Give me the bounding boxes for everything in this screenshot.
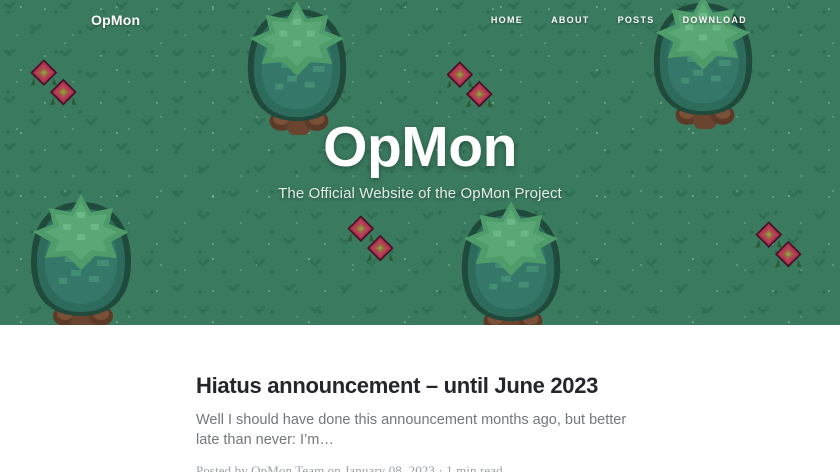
hero-title: OpMon [0,118,840,178]
hero-subtitle: The Official Website of the OpMon Projec… [0,185,840,202]
flower-pair-right-icon [753,220,809,276]
nav-item-home[interactable]: HOME [491,15,523,25]
bush-center-icon [452,196,570,325]
post-excerpt: Well I should have done this announcemen… [196,410,644,450]
nav-item-about[interactable]: ABOUT [551,15,590,25]
post-meta: Posted by OpMon Team on January 08, 2023… [196,463,644,472]
flower-pair-mid-center-icon [345,214,401,270]
bush-left-icon [18,190,144,325]
flower-pair-top-center-icon [444,60,500,116]
post-title-link[interactable]: Hiatus announcement – until June 2023 [196,373,644,399]
nav-item-posts[interactable]: POSTS [618,15,655,25]
hero-banner: OpMon HOME ABOUT POSTS DOWNLOAD OpMon Th… [0,0,840,325]
nav-links: HOME ABOUT POSTS DOWNLOAD [491,15,747,25]
hero-text-block: OpMon The Official Website of the OpMon … [0,118,840,202]
main-content: Hiatus announcement – until June 2023 We… [0,325,840,472]
site-navbar: OpMon HOME ABOUT POSTS DOWNLOAD [0,0,840,40]
post-list-item: Hiatus announcement – until June 2023 We… [196,373,644,472]
site-brand-logo[interactable]: OpMon [91,12,140,28]
nav-item-download[interactable]: DOWNLOAD [683,15,747,25]
flower-pair-top-left-icon [28,58,84,114]
